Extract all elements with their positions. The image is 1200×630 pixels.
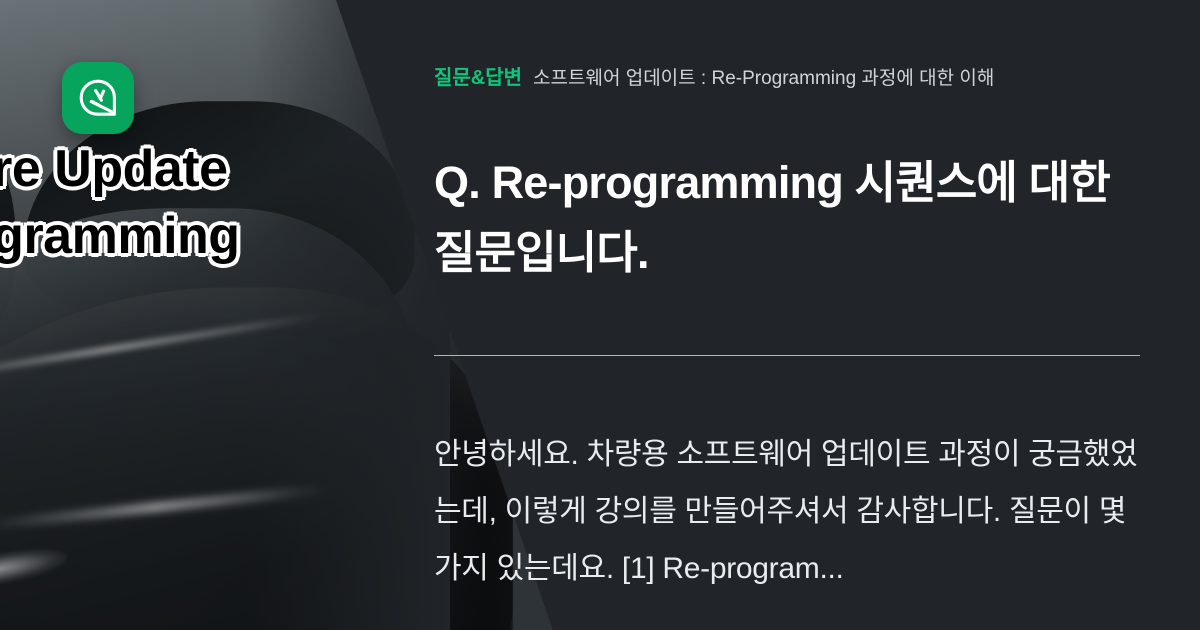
og-preview-card: Software Update Re-Programming 질문&답변 소프트… <box>0 0 1200 630</box>
leaf-pin-arrow-icon <box>77 77 119 119</box>
post-excerpt: 안녕하세요. 차량용 소프트웨어 업데이트 과정이 궁금했었는데, 이렇게 강의… <box>434 426 1140 597</box>
category-badge[interactable]: 질문&답변 <box>434 61 522 90</box>
cover-overlay-line-2: Re-Programming <box>0 203 425 270</box>
course-title-label[interactable]: 소프트웨어 업데이트 : Re-Programming 과정에 대한 이해 <box>533 63 994 90</box>
cover-overlay-title: Software Update Re-Programming <box>0 136 425 269</box>
brand-logo[interactable] <box>62 62 134 134</box>
article-text-column: 질문&답변 소프트웨어 업데이트 : Re-Programming 과정에 대한… <box>434 0 1142 630</box>
divider <box>434 355 1140 356</box>
breadcrumb: 질문&답변 소프트웨어 업데이트 : Re-Programming 과정에 대한… <box>434 61 1142 90</box>
cover-overlay-line-1: Software Update <box>0 136 425 203</box>
page-title: Q. Re-programming 시퀀스에 대한 질문입니다. <box>434 148 1134 288</box>
